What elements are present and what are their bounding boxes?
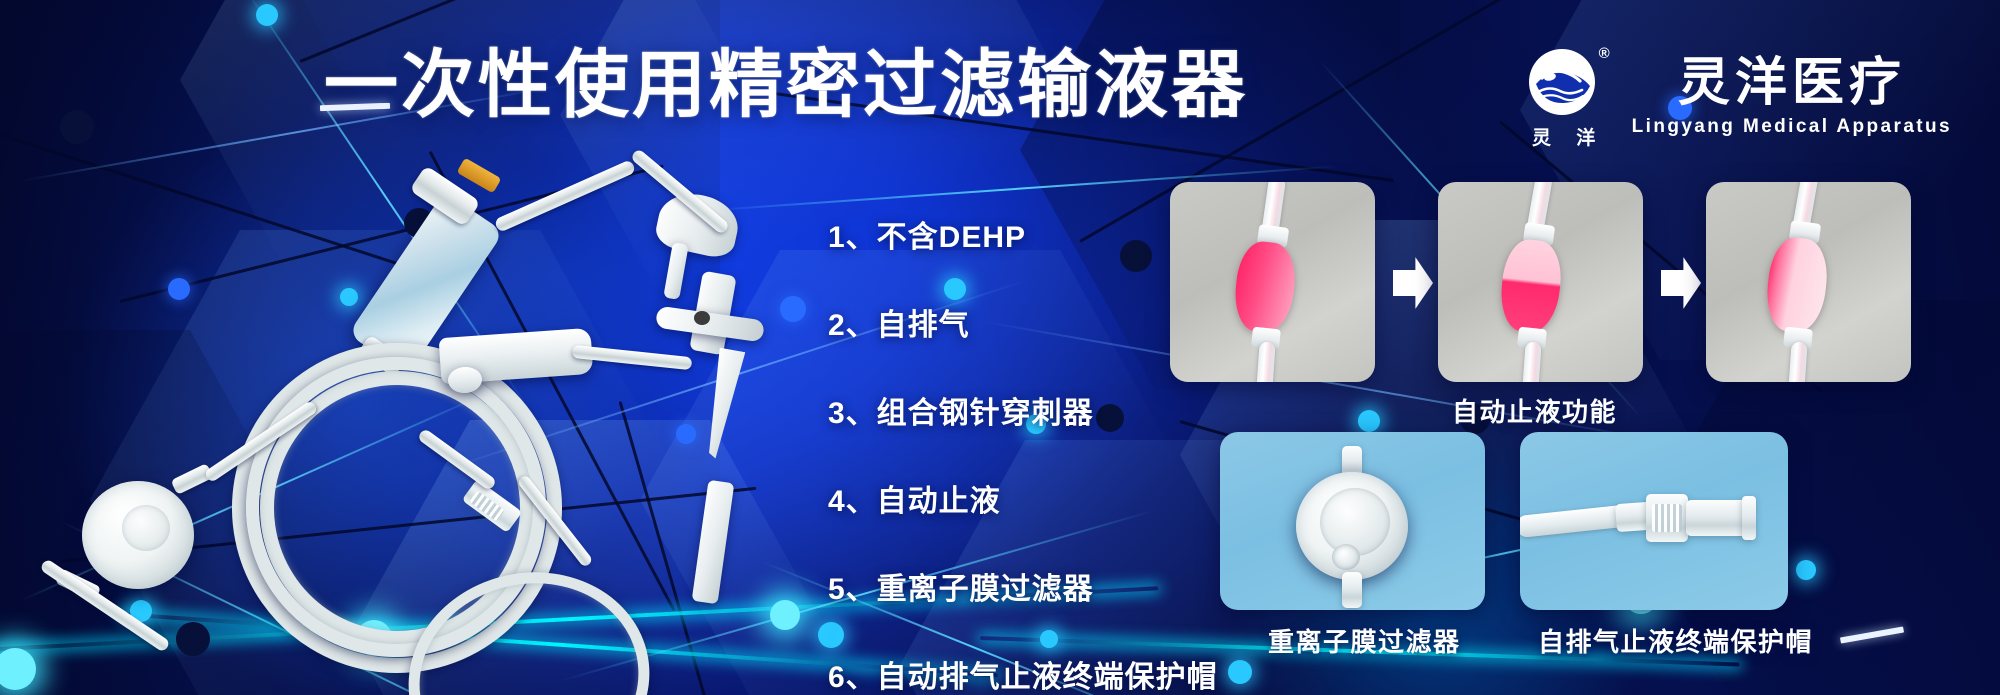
filter-disc-port — [122, 505, 170, 551]
hanger-hook-arm — [663, 242, 688, 300]
bottom-shot-cap — [1520, 432, 1788, 610]
product-photo-infusion-set — [60, 185, 820, 665]
company-name-cn: 灵洋医疗 — [1678, 56, 1906, 111]
demo-shot-2 — [1438, 182, 1643, 382]
brand-logo: ® 灵 洋 灵洋医疗 Lingyang Medical Apparatus — [1518, 44, 1952, 150]
demo-shot-1 — [1170, 182, 1375, 382]
lingyang-circular-emblem-icon: ® — [1526, 44, 1602, 120]
feature-list: 1、不含DEHP 2、自排气 3、组合钢针穿刺器 4、自动止液 5、重离子膜过滤… — [828, 212, 1218, 695]
logo-mark-subtext: 灵 洋 — [1522, 123, 1605, 150]
feature-item: 4、自动止液 — [828, 476, 1218, 520]
logo-mark: ® 灵 洋 — [1518, 44, 1610, 150]
filter-chamber-full — [1231, 239, 1298, 335]
company-name-en: Lingyang Medical Apparatus — [1632, 116, 1952, 138]
feature-item: 2、自排气 — [828, 300, 1218, 344]
feature-item: 3、组合钢针穿刺器 — [828, 388, 1218, 432]
product-banner: 一次性使用精密过滤输液器 ® 灵 洋 灵洋医疗 Lingyang Medical… — [0, 0, 2000, 695]
spike-tip — [701, 348, 746, 461]
bottom-shot-cap-caption: 自排气止液终端保护帽 — [1538, 622, 1813, 659]
filter-chamber-half — [1497, 237, 1564, 335]
bottom-shot-filter-caption: 重离子膜过滤器 — [1268, 622, 1461, 659]
logo-wordmark: 灵洋医疗 Lingyang Medical Apparatus — [1632, 56, 1952, 139]
demo-shot-3 — [1706, 182, 1911, 382]
protective-cap — [692, 480, 735, 604]
feature-item: 5、重离子膜过滤器 — [828, 564, 1218, 608]
registered-trademark-icon: ® — [1599, 46, 1610, 61]
feature-item: 1、不含DEHP — [828, 212, 1218, 256]
terminal-protective-cap — [1686, 500, 1748, 536]
spike-marker — [694, 311, 710, 325]
page-title: 一次性使用精密过滤输液器 — [324, 48, 1248, 122]
filter-chamber-empty — [1763, 235, 1831, 335]
feature-item: 6、自动排气止液终端保护帽 — [828, 652, 1218, 695]
bottom-shot-filter — [1220, 432, 1485, 610]
demo-row-caption: 自动止液功能 — [1452, 392, 1617, 429]
